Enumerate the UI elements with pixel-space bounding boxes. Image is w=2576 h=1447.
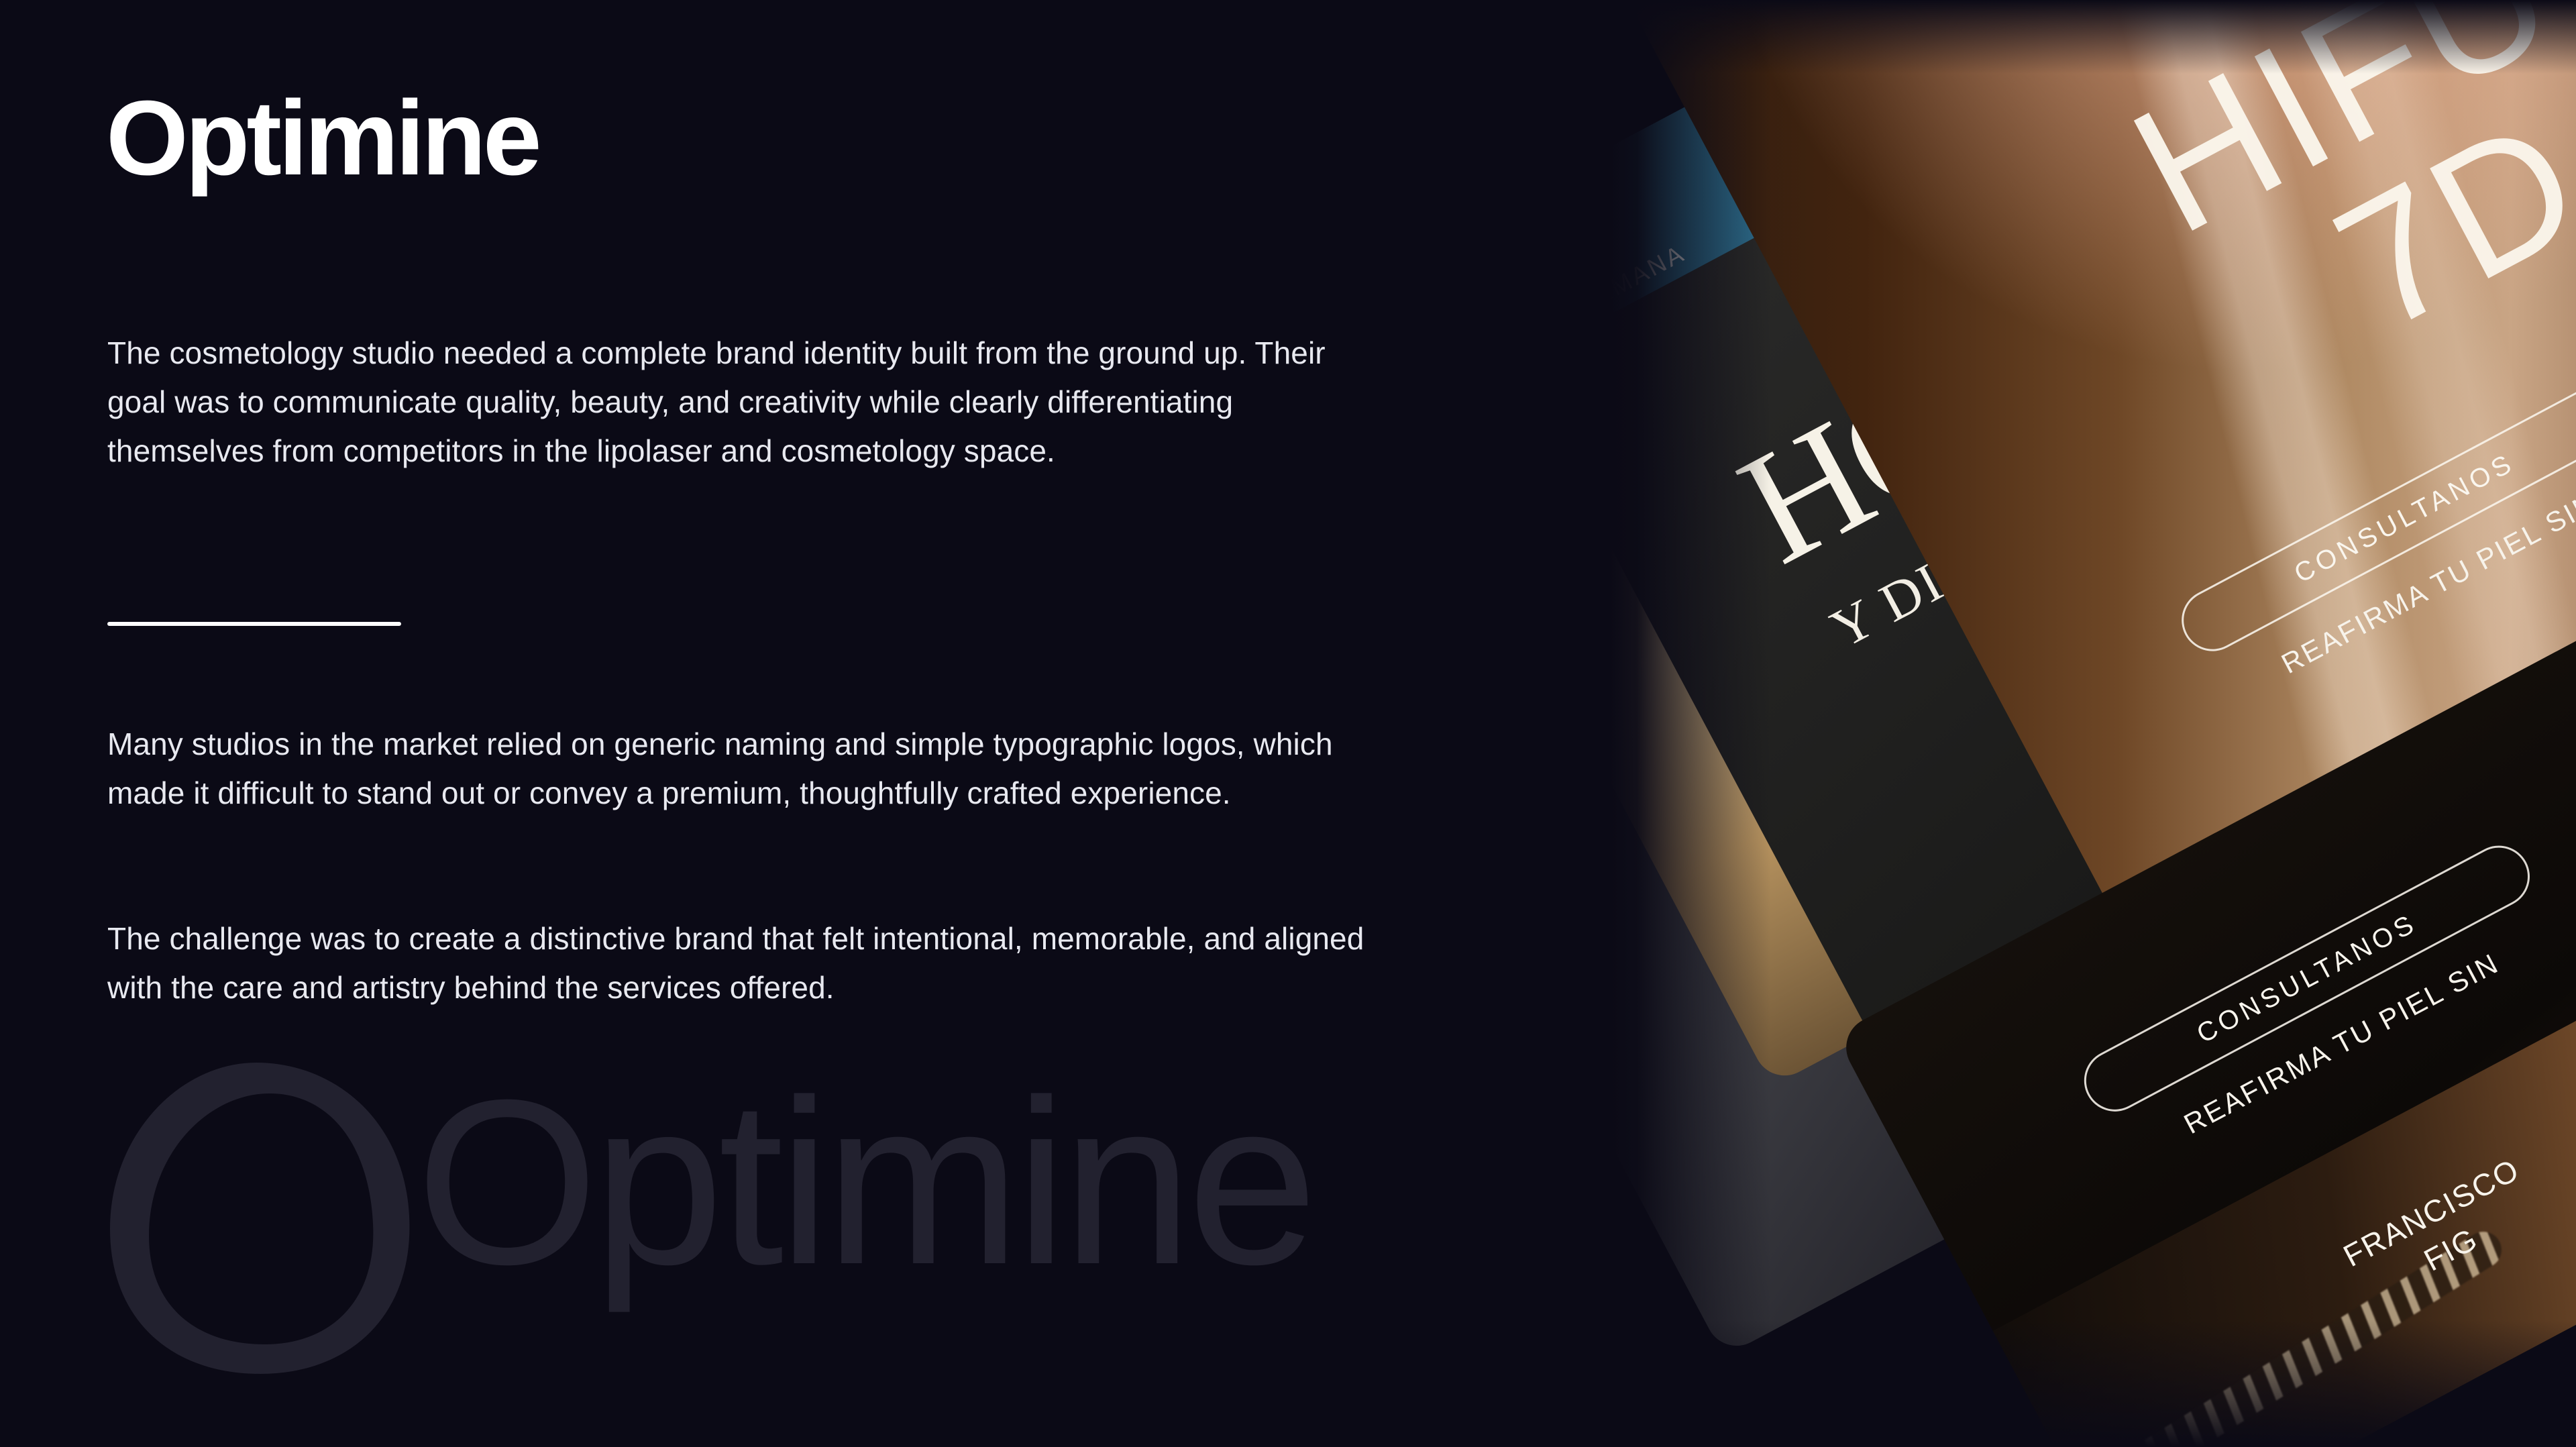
text-column: Optimine The cosmetology studio needed a… — [106, 0, 1481, 1447]
paragraph-market: Many studios in the market relied on gen… — [107, 720, 1389, 818]
paragraph-challenge: The challenge was to create a distinctiv… — [107, 914, 1402, 1012]
paragraph-intro: The cosmetology studio needed a complete… — [107, 329, 1382, 476]
card-collage: SEMANA + HORARIO Y DIRECC HIFU 7D CONSUL… — [1610, 0, 2576, 1447]
page-title: Optimine — [106, 83, 539, 195]
section-divider — [107, 622, 401, 626]
slide-canvas: SEMANA + HORARIO Y DIRECC HIFU 7D CONSUL… — [0, 0, 2576, 1447]
